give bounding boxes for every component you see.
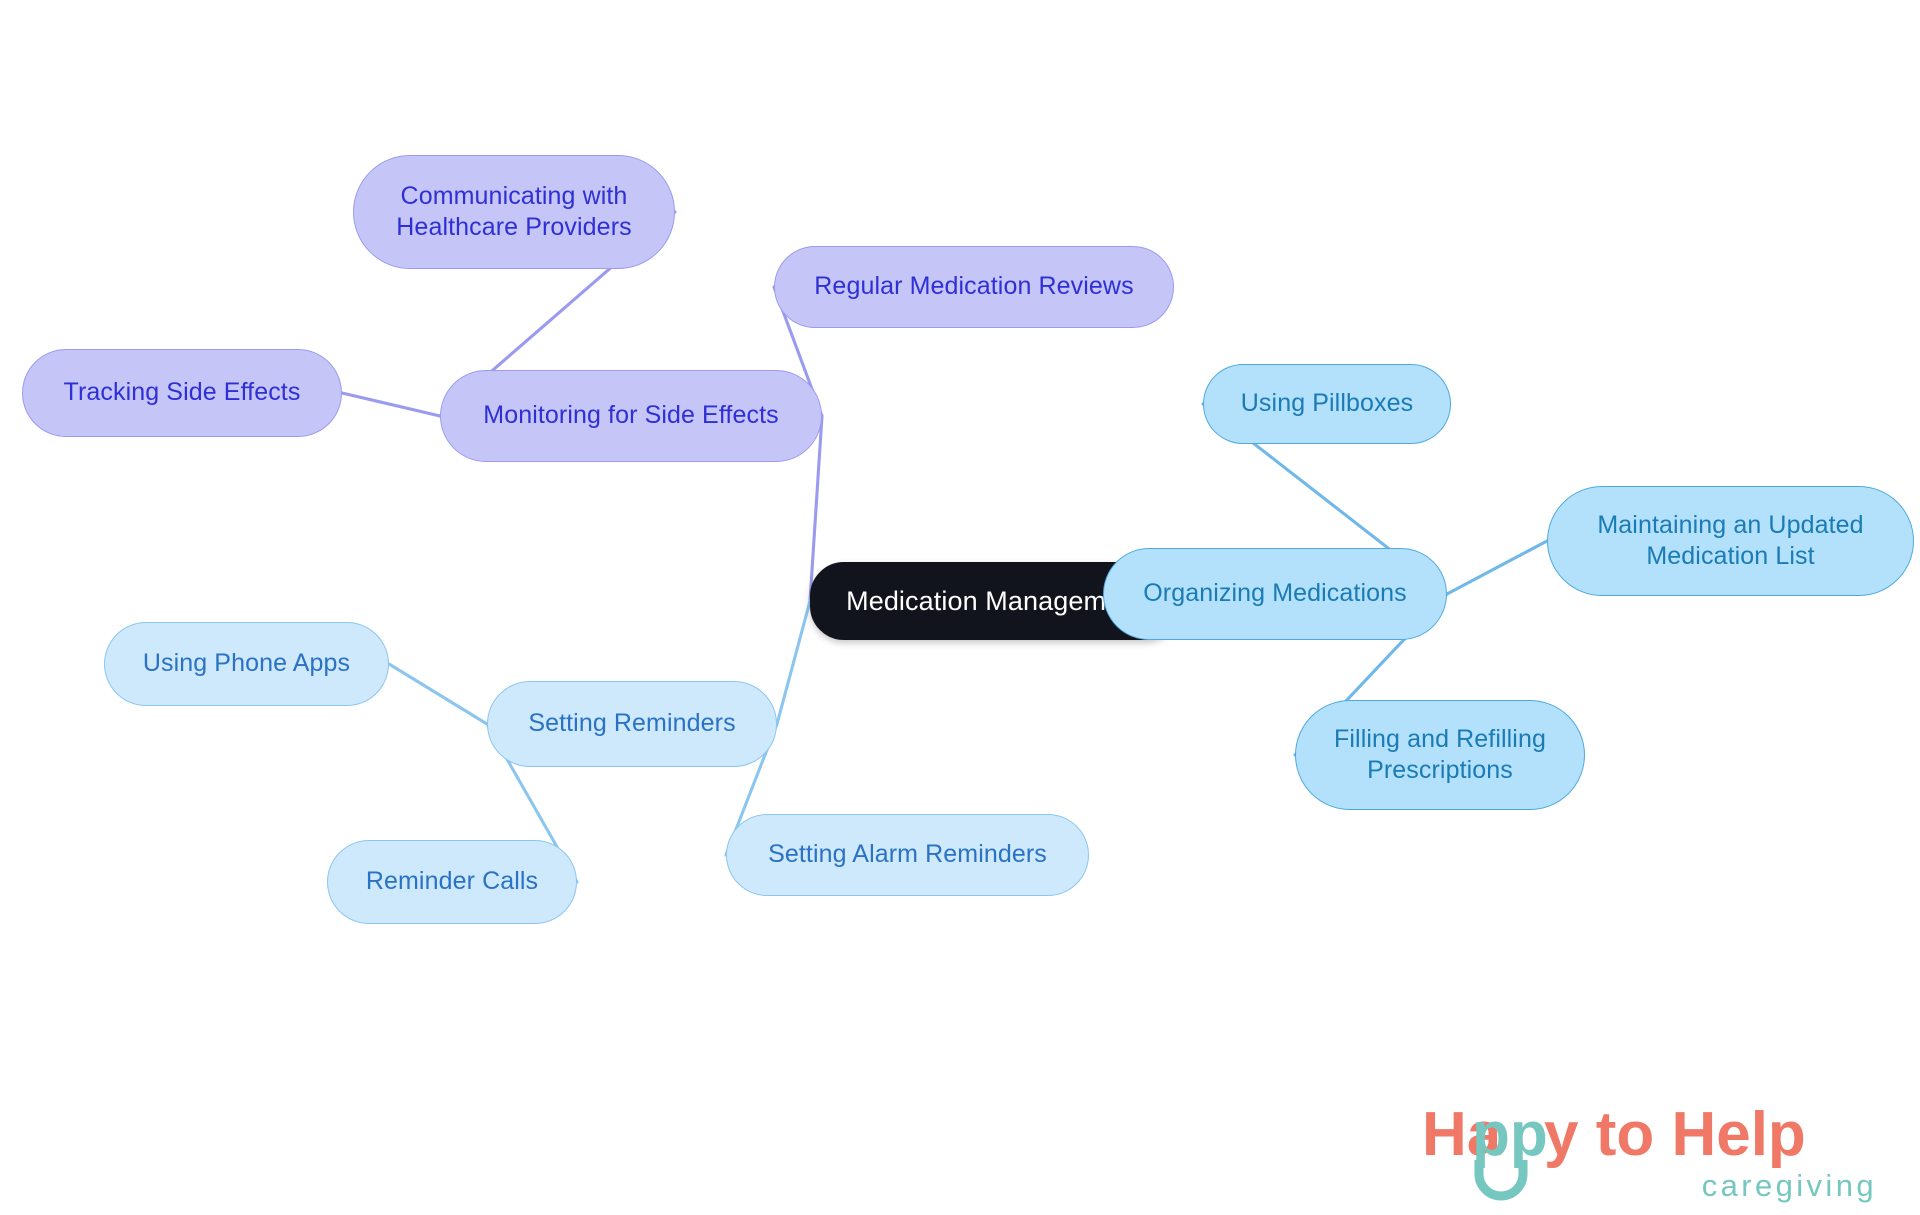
node-using-pillboxes[interactable]: Using Pillboxes <box>1203 364 1451 444</box>
connector-organizing-to-medlist <box>1447 541 1547 594</box>
node-filling-and-refilling-prescriptions[interactable]: Filling and Refilling Prescriptions <box>1295 700 1585 810</box>
node-organizing-medications[interactable]: Organizing Medications <box>1103 548 1447 640</box>
node-regular-medication-reviews[interactable]: Regular Medication Reviews <box>774 246 1174 328</box>
connector-reminders-to-phoneapps <box>389 664 487 724</box>
node-monitoring-for-side-effects[interactable]: Monitoring for Side Effects <box>440 370 822 462</box>
happy-to-help-caregiving-logo: Ha pp y to Help caregiving <box>1422 1095 1882 1205</box>
node-setting-alarm-reminders[interactable]: Setting Alarm Reminders <box>726 814 1089 896</box>
node-maintaining-an-updated-medication-list[interactable]: Maintaining an Updated Medication List <box>1547 486 1914 596</box>
node-reminder-calls[interactable]: Reminder Calls <box>327 840 577 924</box>
mindmap-canvas: Medication Management Monitoring for Sid… <box>0 0 1920 1215</box>
connector-monitoring-to-tracking <box>342 393 440 416</box>
logo-text-happy-pp-teal: pp <box>1472 1100 1548 1169</box>
node-using-phone-apps[interactable]: Using Phone Apps <box>104 622 389 706</box>
logo-text-happy-to-help-rest: y to Help <box>1544 1100 1806 1169</box>
node-tracking-side-effects[interactable]: Tracking Side Effects <box>22 349 342 437</box>
connector-root-to-reminders <box>777 601 810 724</box>
logo-text-caregiving: caregiving <box>1702 1168 1877 1203</box>
node-communicating-with-healthcare-providers[interactable]: Communicating with Healthcare Providers <box>353 155 675 269</box>
node-setting-reminders[interactable]: Setting Reminders <box>487 681 777 767</box>
